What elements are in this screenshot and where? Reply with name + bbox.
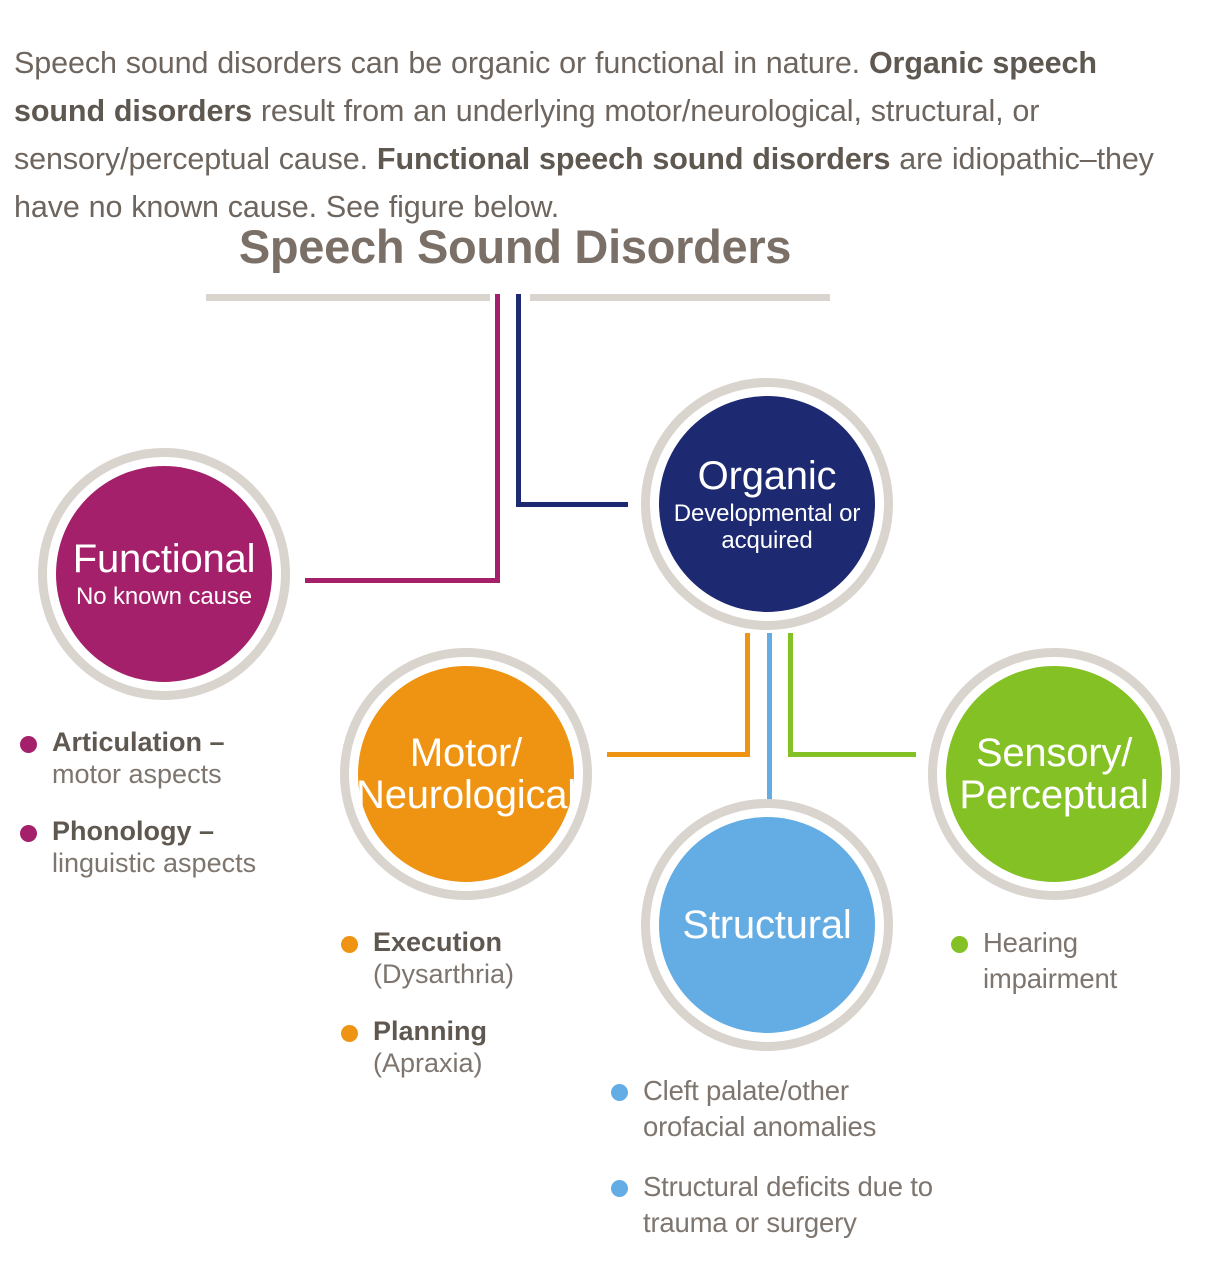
- bullet-term: Execution: [373, 927, 502, 957]
- connector-sensory-drop: [788, 633, 793, 757]
- connector-motor-arm: [607, 752, 750, 757]
- intro-bold-phrase: Functional speech sound disorders: [377, 142, 890, 176]
- title-rule-right: [530, 294, 830, 301]
- bullet-dot-icon: [20, 825, 37, 842]
- bullet-description: linguistic aspects: [52, 848, 314, 879]
- node-subtitle-functional: No known cause: [76, 583, 252, 610]
- node-structural[interactable]: Structural: [641, 799, 893, 1051]
- figure-title: Speech Sound Disorders: [0, 219, 1030, 274]
- node-fill-functional: FunctionalNo known cause: [56, 466, 272, 682]
- list-item: Hearing impairment: [945, 925, 1185, 997]
- connector-organic-drop: [516, 294, 521, 507]
- node-sensory-perceptual[interactable]: Sensory/ Perceptual: [928, 648, 1180, 900]
- node-organic[interactable]: OrganicDevelopmental or acquired: [641, 378, 893, 630]
- list-item: Articulation –motor aspects: [14, 725, 314, 790]
- connector-sensory-arm: [788, 752, 916, 757]
- node-title-structural: Structural: [682, 904, 851, 946]
- bullet-text: Cleft palate/other orofacial anomalies: [643, 1073, 955, 1145]
- intro-text: Speech sound disorders can be organic or…: [14, 46, 869, 80]
- bullet-text: Execution: [373, 925, 595, 959]
- list-item: Phonology –linguistic aspects: [14, 814, 314, 879]
- node-title-functional: Functional: [73, 538, 256, 580]
- node-fill-sensory-perceptual: Sensory/ Perceptual: [946, 666, 1162, 882]
- node-title-sensory-perceptual: Sensory/ Perceptual: [958, 732, 1150, 816]
- bullet-dot-icon: [341, 1025, 358, 1042]
- bullet-dot-icon: [341, 936, 358, 953]
- bullet-dot-icon: [611, 1180, 628, 1197]
- node-fill-motor-neurological: Motor/ Neurological: [358, 666, 574, 882]
- bullet-dot-icon: [951, 936, 968, 953]
- bullet-text: Articulation –: [52, 725, 314, 759]
- motor-bullets: Execution(Dysarthria)Planning(Apraxia): [335, 925, 595, 1103]
- node-fill-organic: OrganicDevelopmental or acquired: [659, 396, 875, 612]
- node-title-motor-neurological: Motor/ Neurological: [356, 732, 576, 816]
- bullet-term: Articulation –: [52, 727, 225, 757]
- bullet-text: Planning: [373, 1014, 595, 1048]
- bullet-text: Hearing impairment: [983, 925, 1185, 997]
- bullet-description: (Apraxia): [373, 1048, 595, 1079]
- list-item: Structural deficits due to trauma or sur…: [605, 1169, 955, 1241]
- connector-organic-arm: [516, 502, 628, 507]
- bullet-description: motor aspects: [52, 759, 314, 790]
- node-title-organic: Organic: [698, 455, 837, 497]
- speech-sound-disorders-figure: Speech Sound Disorders FunctionalNo know…: [0, 205, 1209, 1271]
- sensory-bullets: Hearing impairment: [945, 925, 1185, 1021]
- node-fill-structural: Structural: [659, 817, 875, 1033]
- functional-bullets: Articulation –motor aspectsPhonology –li…: [14, 725, 314, 903]
- node-functional[interactable]: FunctionalNo known cause: [38, 448, 290, 700]
- bullet-dot-icon: [20, 736, 37, 753]
- list-item: Cleft palate/other orofacial anomalies: [605, 1073, 955, 1145]
- structural-bullets: Cleft palate/other orofacial anomaliesSt…: [605, 1073, 955, 1265]
- list-item: Planning(Apraxia): [335, 1014, 595, 1079]
- list-item: Execution(Dysarthria): [335, 925, 595, 990]
- bullet-text: Phonology –: [52, 814, 314, 848]
- node-motor-neurological[interactable]: Motor/ Neurological: [340, 648, 592, 900]
- bullet-term: Phonology –: [52, 816, 214, 846]
- connector-structural-drop: [767, 633, 772, 800]
- bullet-text: Structural deficits due to trauma or sur…: [643, 1169, 955, 1241]
- intro-paragraph: Speech sound disorders can be organic or…: [14, 39, 1174, 231]
- node-subtitle-organic: Developmental or acquired: [671, 500, 863, 554]
- connector-motor-drop: [745, 633, 750, 757]
- title-rule-left: [206, 294, 490, 301]
- bullet-term: Planning: [373, 1016, 487, 1046]
- bullet-dot-icon: [611, 1084, 628, 1101]
- connector-functional-drop: [495, 294, 500, 583]
- connector-functional-arm: [305, 578, 500, 583]
- bullet-description: (Dysarthria): [373, 959, 595, 990]
